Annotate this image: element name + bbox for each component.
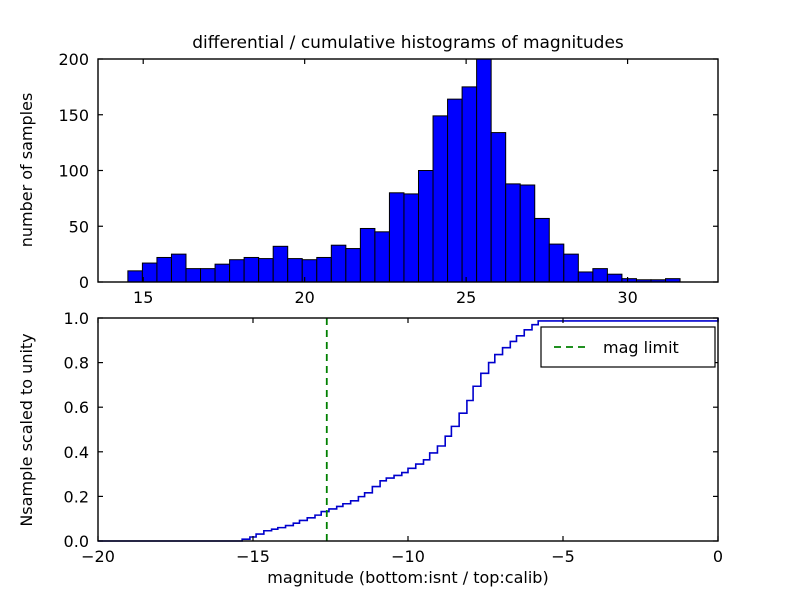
chart-legend[interactable]: mag limit [541,327,715,367]
legend-mag-limit-label: mag limit [603,338,679,357]
histogram-bar [389,193,404,282]
x-tick-label: 20 [294,288,314,307]
histogram-bar [607,274,622,282]
y-tick-label: 0.6 [64,398,89,417]
histogram-bar [142,263,157,282]
histogram-bar [535,218,550,282]
histogram-bar [520,185,535,282]
x-tick-label: 0 [713,547,723,566]
histogram-bar [171,254,186,282]
matplotlib-figure: differential / cumulative histograms of … [0,0,800,600]
histogram-bar [128,271,143,282]
histogram-bar [433,116,448,282]
x-tick-label: 25 [456,288,476,307]
y-tick-label: 150 [58,106,89,125]
bottom-x-axis-label: magnitude (bottom:isnt / top:calib) [267,568,548,587]
histogram-bar [244,257,259,282]
bottom-y-axis-label: Nsample scaled to unity [17,333,36,526]
x-tick-label: −15 [236,547,270,566]
y-tick-label: 0 [79,273,89,292]
histogram-bar [230,260,245,282]
histogram-bar [549,244,564,282]
top-y-axis-label: number of samples [17,93,36,248]
figure-background [0,0,800,600]
x-tick-label: −10 [391,547,425,566]
histogram-bar [186,269,201,282]
histogram-bar [201,269,216,282]
histogram-bar [564,254,579,282]
x-tick-label: −5 [551,547,575,566]
histogram-bar [360,228,375,282]
histogram-bar [331,245,346,282]
histogram-bar [418,171,433,283]
figure-canvas: differential / cumulative histograms of … [0,0,800,600]
histogram-bar [506,184,521,282]
x-tick-label: 30 [617,288,637,307]
x-tick-label: 15 [133,288,153,307]
histogram-bar [404,194,419,282]
histogram-bar [317,257,332,282]
histogram-bar [288,259,303,282]
histogram-bar [477,59,492,282]
histogram-bar [578,272,593,282]
histogram-bar [375,232,390,282]
histogram-bar [346,249,361,282]
histogram-bar [259,259,274,282]
histogram-bar [593,269,608,282]
y-tick-label: 0.4 [64,443,89,462]
y-tick-label: 0.8 [64,354,89,373]
histogram-bar [273,246,288,282]
histogram-bar [215,264,230,282]
y-tick-label: 100 [58,162,89,181]
y-tick-label: 50 [69,217,89,236]
y-tick-label: 200 [58,50,89,69]
y-tick-label: 0.0 [64,532,89,551]
histogram-bar [157,257,172,282]
histogram-bar [491,133,506,282]
histogram-bar [448,99,463,282]
histogram-bar [462,87,477,282]
page-title: differential / cumulative histograms of … [192,33,624,53]
y-tick-label: 0.2 [64,487,89,506]
y-tick-label: 1.0 [64,309,89,328]
